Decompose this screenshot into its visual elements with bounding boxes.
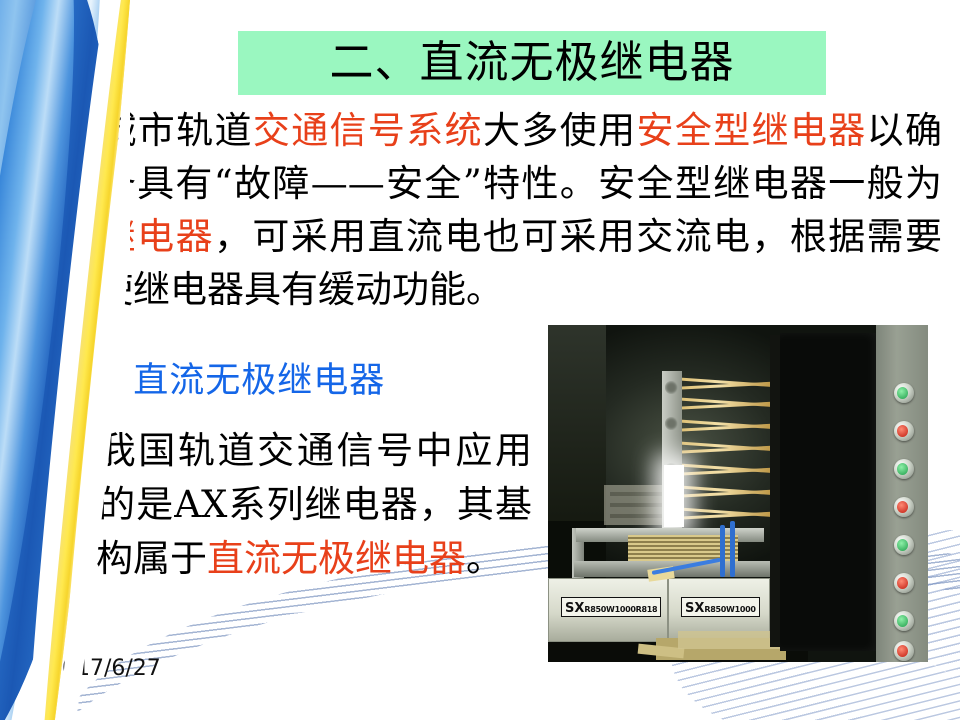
- blue-wire-3: [730, 521, 735, 577]
- slide-canvas: 二、直流无极继电器 城市轨道交通信号系统大多使用安全型继电器以确保设备具有“故障…: [0, 0, 960, 720]
- photo-specular-highlight: [664, 465, 684, 527]
- coil-left-spec: R850W1000R818: [584, 605, 657, 614]
- subheading-dc-nonpolar-relay: 1．直流无极继电器: [74, 352, 385, 403]
- p1-highlight-electromagnetic-relay: 电磁继电器: [22, 215, 214, 258]
- paragraph-ax-series: 我国轨道交通信号中应用较多的是AX系列继电器，其基本结构属于直流无极继电器。: [22, 424, 532, 586]
- p1-seg3: 大多使用: [483, 109, 636, 152]
- indicator-led-6: [894, 573, 914, 593]
- indicator-led-3: [894, 459, 914, 479]
- coil-right-label: SXR850W1000: [681, 597, 760, 617]
- relay-photo: SXR850W1000R818 SXR850W1000: [548, 325, 928, 662]
- coil-left-brand: SX: [565, 601, 584, 616]
- p2-highlight-dc-nonpolar-relay: 直流无极继电器: [207, 537, 466, 580]
- coil-left: SXR850W1000R818: [548, 578, 668, 642]
- indicator-led-1: [894, 383, 914, 403]
- indicator-led-7: [894, 611, 914, 631]
- title-banner: 二、直流无极继电器: [238, 31, 826, 95]
- paragraph-intro: 城市轨道交通信号系统大多使用安全型继电器以确保设备具有“故障——安全”特性。安全…: [22, 104, 942, 316]
- indicator-led-4: [894, 497, 914, 517]
- contact-spring-stack: [672, 373, 784, 535]
- coil-right-spec: R850W1000: [704, 605, 755, 614]
- photo-dark-left-wall: [548, 325, 606, 533]
- rack-rail: [876, 325, 928, 662]
- coil-right-brand: SX: [685, 601, 704, 616]
- blue-wire-2: [720, 525, 725, 577]
- photo-background-paper: [604, 485, 670, 525]
- indicator-led-8: [894, 641, 914, 661]
- relay-black-body: [780, 333, 880, 651]
- coil-left-label: SXR850W1000R818: [561, 597, 661, 617]
- indicator-led-5: [894, 535, 914, 555]
- p1-highlight-traffic-signal-system: 交通信号系统: [253, 109, 483, 152]
- p1-seg1: 城市轨道: [98, 109, 253, 152]
- p2-seg3: 。: [466, 537, 503, 580]
- p1-highlight-safety-relay: 安全型继电器: [636, 109, 866, 152]
- date-stamp: 2017/6/27: [48, 656, 161, 681]
- page-title: 二、直流无极继电器: [330, 41, 735, 85]
- indicator-led-2: [894, 421, 914, 441]
